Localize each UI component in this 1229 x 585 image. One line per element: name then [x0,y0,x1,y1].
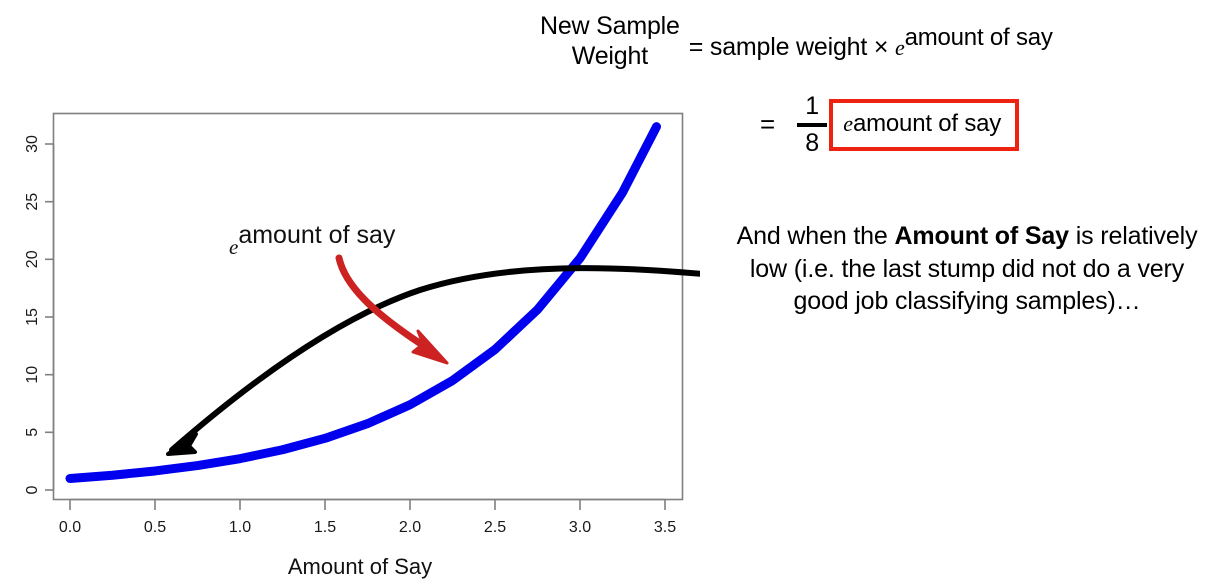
explanation-paragraph: And when the Amount of Say is relatively… [722,220,1212,318]
equals-sign-2: = [760,109,797,142]
amount-of-say-exponent-boxed: amount of say [853,110,1001,138]
x-axis-title: Amount of Say [288,554,432,579]
x-tick-label: 2.0 [399,519,421,536]
y-tick-label: 10 [24,366,41,384]
x-tick-label: 0.0 [59,519,81,536]
chart-svg: 0 5 10 15 20 25 30 0.0 0.5 1.0 1.5 2.0 [0,0,700,585]
fraction-denominator: 8 [805,129,819,156]
y-axis [45,144,54,490]
y-tick-label: 5 [24,428,41,437]
euler-base-boxed: e [843,111,853,137]
x-tick-label: 0.5 [144,519,166,536]
x-tick-label: 3.5 [654,519,676,536]
y-tick-label: 30 [24,135,41,153]
fraction-bar [797,123,827,127]
x-tick-label: 1.5 [314,519,336,536]
x-tick-labels: 0.0 0.5 1.0 1.5 2.0 2.5 3.0 3.5 [59,519,676,536]
y-tick-label: 0 [24,485,41,494]
y-tick-labels: 0 5 10 15 20 25 30 [24,135,41,494]
equation-line-1: New Sample Weight = sample weight × eamo… [540,6,1229,71]
fraction-numerator: 1 [805,94,819,121]
x-tick-label: 1.0 [229,519,251,536]
x-axis [70,500,665,511]
explanation-panel: New Sample Weight = sample weight × eamo… [700,0,1229,585]
curve-label-exponent: amount of say [238,221,396,249]
euler-base: e [895,35,905,60]
sample-weight-term: sample weight × [710,33,895,61]
curve-label-base: e [229,235,238,259]
equation-line-2: = 1 8 eamount of say [760,94,1019,156]
one-eighth-fraction: 1 8 [797,94,827,156]
amount-of-say-exponent: amount of say [905,24,1053,51]
equals-sign: = [689,33,703,61]
y-tick-label: 20 [24,250,41,268]
equation-line-1-rhs: = sample weight × eamount of say [680,6,1053,62]
paragraph-bold-term: Amount of Say [894,222,1068,250]
paragraph-part-1: And when the [737,222,895,250]
new-sample-weight-label: New Sample Weight [540,6,680,71]
x-tick-label: 2.5 [484,519,506,536]
highlighted-exponential-term: eamount of say [829,99,1019,151]
y-tick-label: 25 [24,193,41,211]
x-tick-label: 3.0 [569,519,591,536]
chart-panel: 0 5 10 15 20 25 30 0.0 0.5 1.0 1.5 2.0 [0,0,700,585]
y-tick-label: 15 [24,308,41,326]
